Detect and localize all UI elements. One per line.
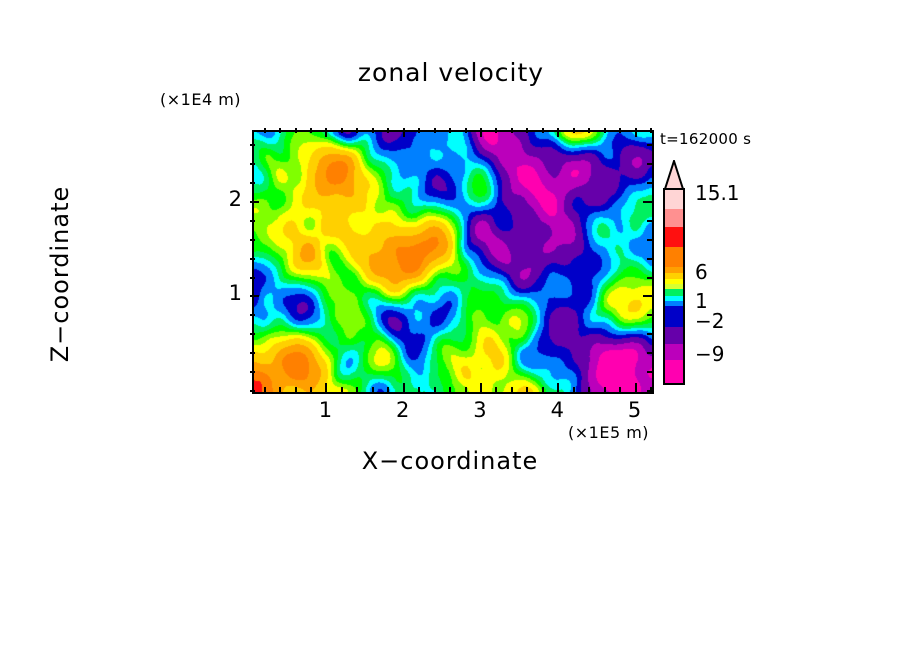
x-minor-tick-top bbox=[526, 128, 528, 133]
x-minor-tick-top bbox=[356, 128, 358, 133]
colorbar-tick-label: −9 bbox=[695, 342, 724, 366]
colorbar-tick-label: −2 bbox=[695, 309, 724, 333]
y-minor-tick bbox=[250, 333, 255, 335]
x-tick-label: 5 bbox=[615, 398, 655, 422]
colorbar-band bbox=[665, 327, 683, 344]
y-minor-tick bbox=[250, 277, 255, 279]
x-minor-tick-top bbox=[434, 128, 436, 133]
x-minor-tick-top bbox=[542, 128, 544, 133]
x-minor-tick-top bbox=[295, 128, 297, 133]
y-minor-tick bbox=[250, 182, 255, 184]
y-minor-tick-right bbox=[647, 144, 652, 146]
x-minor-tick bbox=[310, 387, 312, 392]
x-tick-label: 4 bbox=[537, 398, 577, 422]
contour-field-canvas bbox=[254, 132, 652, 392]
x-major-tick-top bbox=[557, 128, 559, 137]
x-minor-tick bbox=[449, 387, 451, 392]
x-minor-tick bbox=[295, 387, 297, 392]
x-minor-tick-top bbox=[465, 128, 467, 133]
x-tick-label: 1 bbox=[305, 398, 345, 422]
x-minor-tick-top bbox=[511, 128, 513, 133]
colorbar-band bbox=[665, 209, 683, 228]
y-axis-unit-label: (×1E4 m) bbox=[160, 90, 241, 109]
y-minor-tick-right bbox=[647, 239, 652, 241]
x-minor-tick-top bbox=[588, 128, 590, 133]
x-minor-tick bbox=[542, 387, 544, 392]
x-minor-tick-top bbox=[418, 128, 420, 133]
x-tick-label: 3 bbox=[460, 398, 500, 422]
x-minor-tick bbox=[387, 387, 389, 392]
y-minor-tick bbox=[250, 144, 255, 146]
x-minor-tick-top bbox=[650, 128, 652, 133]
colorbar-arrow-cap bbox=[663, 160, 685, 190]
y-minor-tick-right bbox=[647, 352, 652, 354]
x-major-tick-top bbox=[480, 128, 482, 137]
x-minor-tick bbox=[341, 387, 343, 392]
x-minor-tick-top bbox=[341, 128, 343, 133]
x-major-tick bbox=[635, 383, 637, 392]
x-minor-tick bbox=[573, 387, 575, 392]
x-minor-tick-top bbox=[387, 128, 389, 133]
y-minor-tick-right bbox=[647, 258, 652, 260]
y-minor-tick bbox=[250, 371, 255, 373]
y-major-tick bbox=[250, 295, 259, 297]
colorbar-bands bbox=[663, 188, 685, 385]
y-minor-tick-right bbox=[647, 182, 652, 184]
y-tick-label: 2 bbox=[202, 187, 242, 211]
y-minor-tick-right bbox=[647, 371, 652, 373]
x-minor-tick bbox=[434, 387, 436, 392]
colorbar-tick-label: 15.1 bbox=[695, 181, 740, 205]
x-major-tick bbox=[403, 383, 405, 392]
x-minor-tick bbox=[279, 387, 281, 392]
x-minor-tick-top bbox=[310, 128, 312, 133]
colorbar: 15.161−2−9 bbox=[655, 160, 755, 400]
x-minor-tick bbox=[465, 387, 467, 392]
y-axis-title: Z−coordinate bbox=[46, 124, 74, 424]
colorbar-band bbox=[665, 227, 683, 247]
x-axis-unit-label: (×1E5 m) bbox=[568, 423, 649, 442]
x-minor-tick bbox=[356, 387, 358, 392]
x-tick-label: 2 bbox=[383, 398, 423, 422]
y-tick-label: 1 bbox=[202, 281, 242, 305]
x-minor-tick bbox=[511, 387, 513, 392]
x-minor-tick bbox=[588, 387, 590, 392]
y-minor-tick-right bbox=[647, 163, 652, 165]
x-minor-tick-top bbox=[449, 128, 451, 133]
colorbar-band bbox=[665, 360, 683, 383]
y-minor-tick-right bbox=[647, 220, 652, 222]
x-minor-tick-top bbox=[495, 128, 497, 133]
colorbar-band bbox=[665, 289, 683, 296]
y-minor-tick-right bbox=[647, 314, 652, 316]
x-major-tick bbox=[480, 383, 482, 392]
y-minor-tick bbox=[250, 352, 255, 354]
colorbar-band bbox=[665, 247, 683, 267]
colorbar-band bbox=[665, 306, 683, 327]
y-minor-tick bbox=[250, 314, 255, 316]
x-major-tick bbox=[557, 383, 559, 392]
plot-area bbox=[252, 130, 654, 394]
x-minor-tick-top bbox=[264, 128, 266, 133]
y-major-tick-right bbox=[643, 295, 652, 297]
y-major-tick-right bbox=[643, 201, 652, 203]
x-major-tick-top bbox=[403, 128, 405, 137]
x-minor-tick bbox=[372, 387, 374, 392]
x-major-tick-top bbox=[325, 128, 327, 137]
x-minor-tick bbox=[264, 387, 266, 392]
time-annotation: t=162000 s bbox=[660, 130, 751, 148]
x-major-tick-top bbox=[635, 128, 637, 137]
x-minor-tick bbox=[619, 387, 621, 392]
x-minor-tick bbox=[604, 387, 606, 392]
y-minor-tick bbox=[250, 163, 255, 165]
contour-figure: zonal velocity (×1E4 m) (×1E5 m) t=16200… bbox=[0, 0, 904, 654]
x-minor-tick bbox=[526, 387, 528, 392]
y-minor-tick-right bbox=[647, 390, 652, 392]
colorbar-band bbox=[665, 344, 683, 360]
y-minor-tick bbox=[250, 390, 255, 392]
x-minor-tick bbox=[495, 387, 497, 392]
y-minor-tick-right bbox=[647, 277, 652, 279]
x-minor-tick-top bbox=[372, 128, 374, 133]
x-minor-tick-top bbox=[619, 128, 621, 133]
y-minor-tick bbox=[250, 258, 255, 260]
x-minor-tick-top bbox=[604, 128, 606, 133]
x-minor-tick-top bbox=[279, 128, 281, 133]
x-minor-tick bbox=[418, 387, 420, 392]
y-minor-tick bbox=[250, 220, 255, 222]
page-title: zonal velocity bbox=[252, 58, 650, 87]
colorbar-band bbox=[665, 190, 683, 209]
y-minor-tick-right bbox=[647, 333, 652, 335]
y-major-tick bbox=[250, 201, 259, 203]
x-major-tick bbox=[325, 383, 327, 392]
colorbar-tick-label: 6 bbox=[695, 260, 708, 284]
x-minor-tick-top bbox=[573, 128, 575, 133]
y-minor-tick bbox=[250, 239, 255, 241]
x-axis-title: X−coordinate bbox=[300, 447, 600, 475]
